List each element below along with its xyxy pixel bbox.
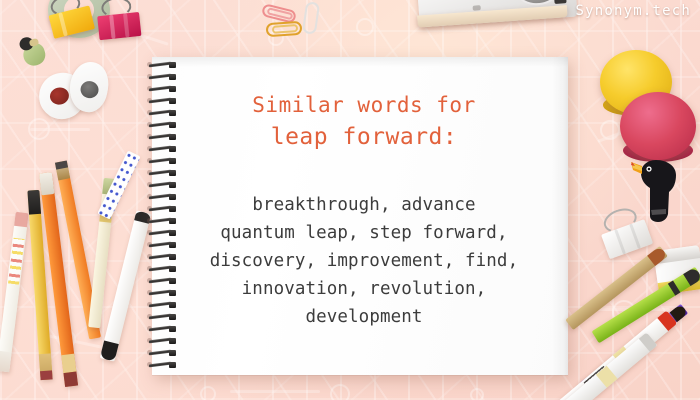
binder-clip-pink [96,4,143,42]
macaron-pink [620,92,696,160]
heading-similar-words-for: Similar words for [160,93,568,118]
synonym-line: development [160,303,568,331]
synonym-line: discovery, improvement, find, [160,247,568,275]
heading-query-term: leap forward: [160,124,568,151]
synonym-line: innovation, revolution, [160,275,568,303]
paper-clip-orange [266,21,303,37]
notepad-text-block: Similar words for leap forward: breakthr… [160,57,568,331]
synonym-line: quantum leap, step forward, [160,219,568,247]
synonym-line: breakthrough, advance [160,191,568,219]
synonym-list: breakthrough, advance quantum leap, step… [160,191,568,331]
screenshot-stage: Similar words for leap forward: breakthr… [0,0,700,400]
brand-watermark: Synonym.tech [575,3,691,19]
